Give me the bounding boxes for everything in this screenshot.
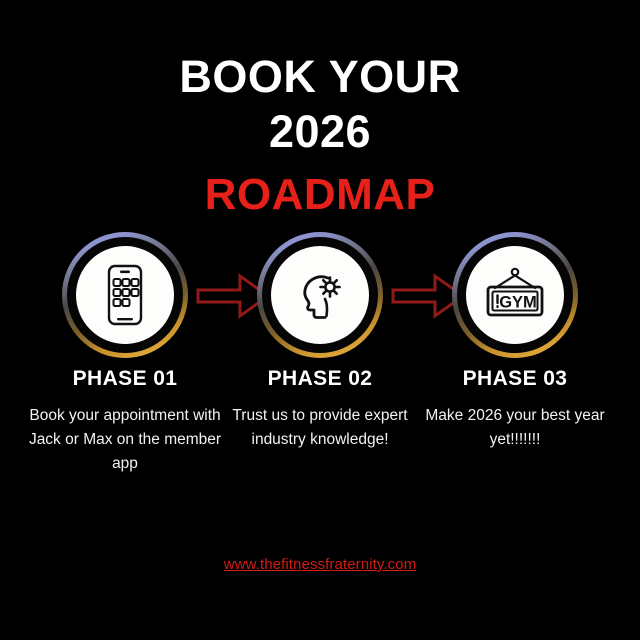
page-title: BOOK YOUR 2026 ROADMAP <box>0 50 640 224</box>
phase-2-badge-face <box>271 246 369 344</box>
gym-sign-text: GYM <box>499 294 537 312</box>
phase-3-title: PHASE 03 <box>417 366 613 392</box>
gym-hanging-sign-icon: GYM <box>482 266 548 324</box>
phase-2-title: PHASE 02 <box>222 366 418 392</box>
smartphone-app-grid-icon <box>99 264 151 326</box>
footer: www.thefitnessfraternity.com <box>0 556 640 574</box>
phase-column-3: PHASE 03 Make 2026 your best year yet!!!… <box>417 366 613 452</box>
phase-2-badge <box>257 232 383 358</box>
phase-column-2: PHASE 02 Trust us to provide expert indu… <box>222 366 418 452</box>
phase-1-badge-face <box>76 246 174 344</box>
title-line-book-your: BOOK YOUR <box>0 50 640 104</box>
phase-3-badge-face: GYM <box>466 246 564 344</box>
title-line-year: 2026 <box>0 104 640 160</box>
poster-canvas: BOOK YOUR 2026 ROADMAP <box>0 0 640 640</box>
phase-1-badge <box>62 232 188 358</box>
phase-column-1: PHASE 01 Book your appointment with Jack… <box>27 366 223 476</box>
phase-1-title: PHASE 01 <box>27 366 223 392</box>
phase-1-description: Book your appointment with Jack or Max o… <box>27 404 223 476</box>
phase-2-description: Trust us to provide expert industry know… <box>222 404 418 452</box>
phase-columns: PHASE 01 Book your appointment with Jack… <box>0 366 640 516</box>
website-url-link[interactable]: www.thefitnessfraternity.com <box>224 556 417 573</box>
head-gear-knowledge-icon <box>292 269 348 321</box>
roadmap-steps: GYM <box>0 232 640 360</box>
title-line-roadmap: ROADMAP <box>0 166 640 224</box>
phase-3-badge: GYM <box>452 232 578 358</box>
phase-3-description: Make 2026 your best year yet!!!!!!! <box>417 404 613 452</box>
